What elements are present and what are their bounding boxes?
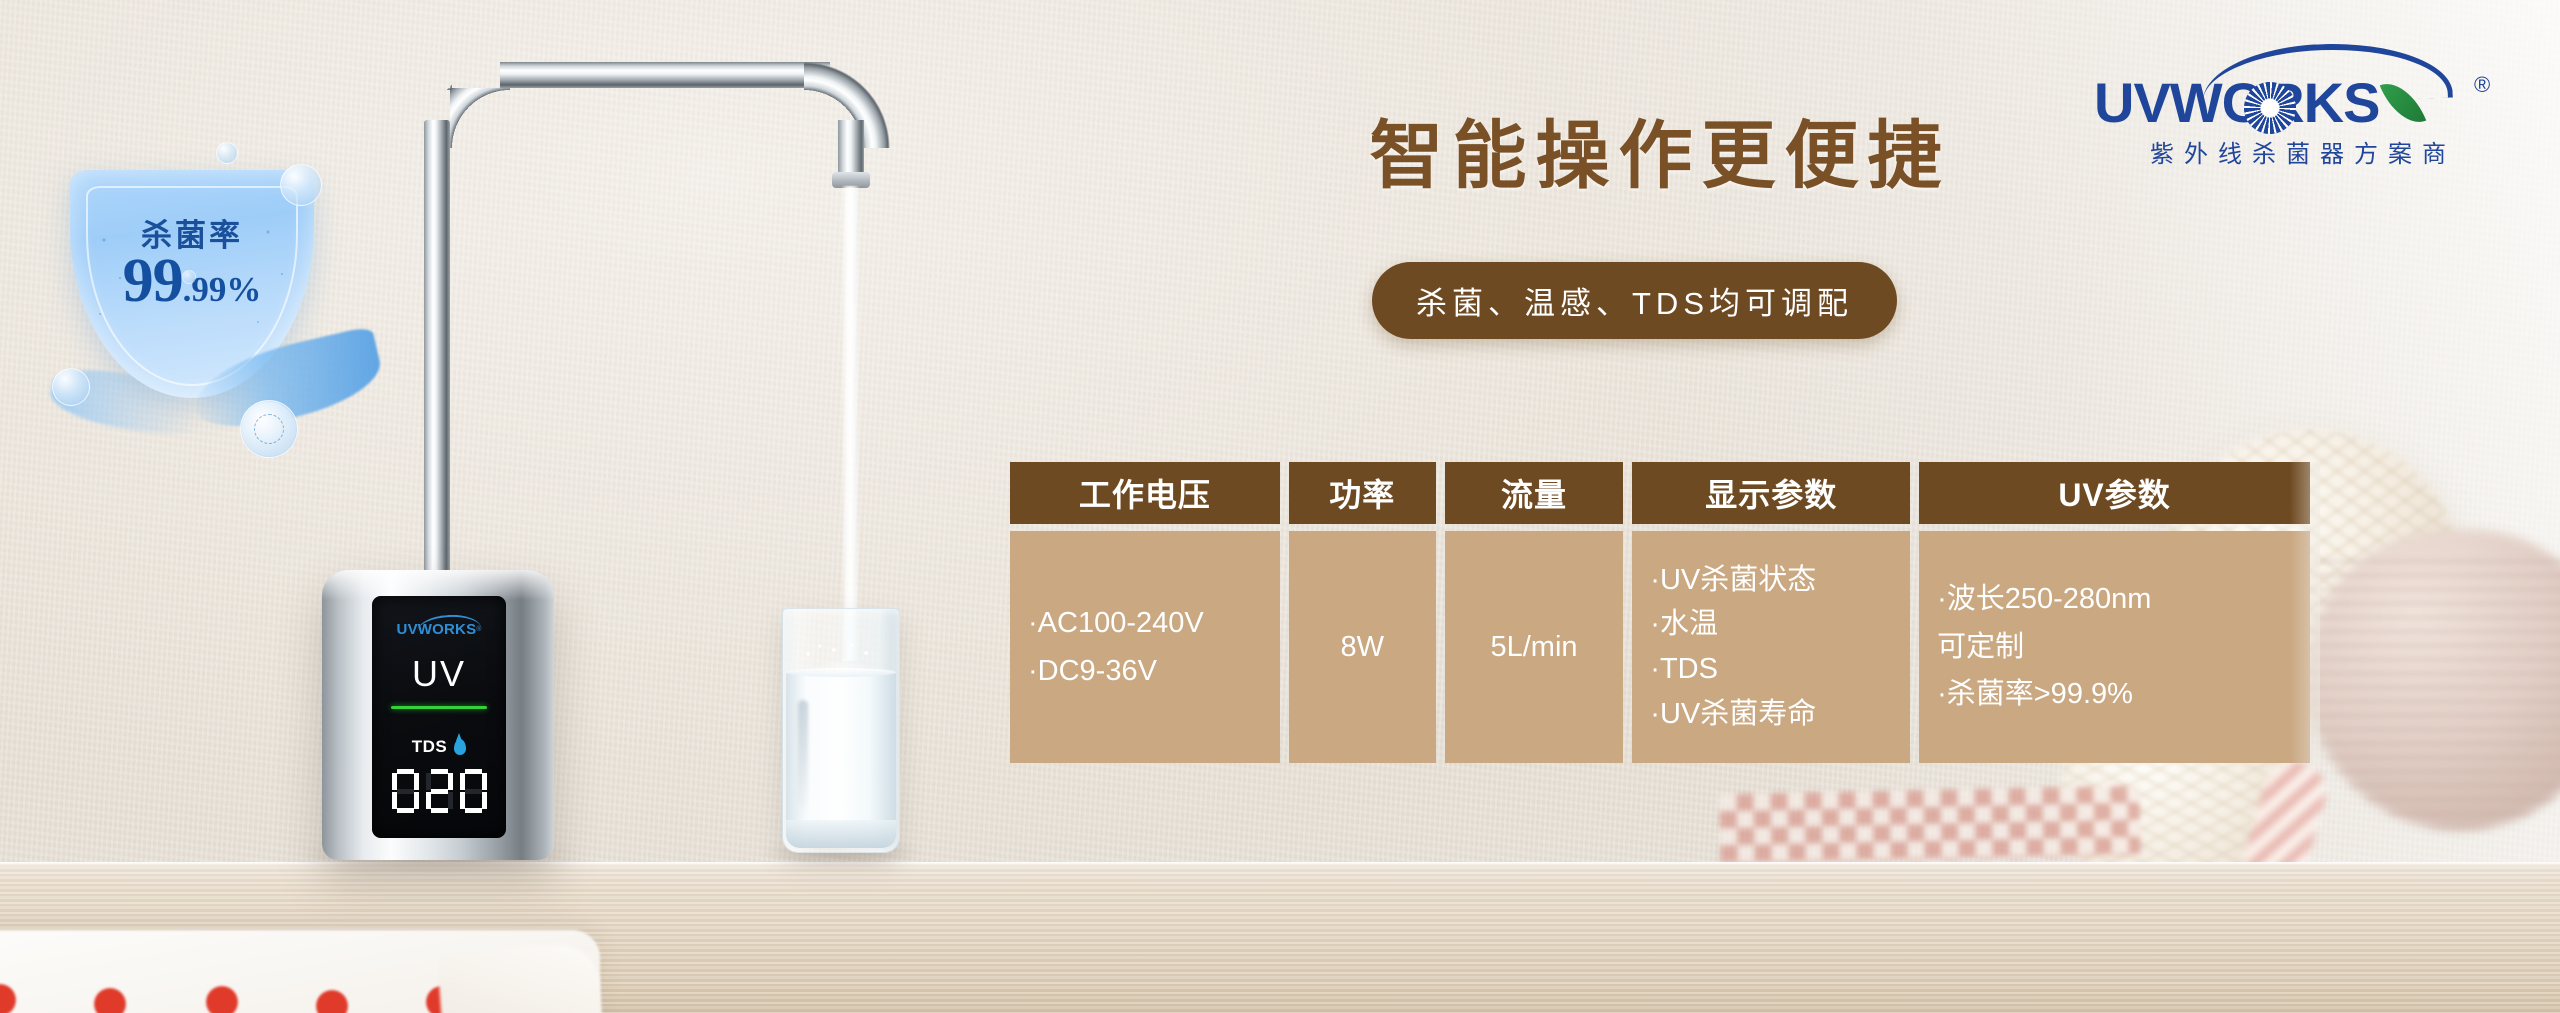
badge-percent-major: 99 [123,247,183,315]
logo-sunburst-rays [2244,82,2296,134]
spec-body: ·波长250-280nm 可定制 ·杀菌率>99.9% [1919,531,2310,763]
faucet-spout [838,120,864,180]
subtitle-pill: 杀菌、温感、TDS均可调配 [1372,262,1897,339]
spec-header: 流量 [1445,462,1624,524]
spec-header: UV参数 [1919,462,2310,524]
seven-segment-digit [392,769,419,813]
water-stream [842,186,859,661]
badge-title: 杀菌率 [70,210,314,255]
brand-logo: UVWORKS ® 紫外线杀菌器方案商 [2088,38,2518,168]
bubble-icon [182,270,196,284]
spec-line: 可定制 [1937,629,2292,666]
spec-line: ·波长250-280nm [1937,581,2292,618]
bubble-icon [52,368,90,406]
spec-line: ·TDS [1650,651,1892,688]
device-display-screen: UVWORKS ® UV TDS [372,596,506,838]
spec-body: 5L/min [1445,531,1624,763]
faucet-horizontal-pipe [500,62,830,88]
spec-line: ·水温 [1650,606,1892,643]
page-title: 智能操作更便捷 [1330,118,1990,198]
spec-column-working-voltage: 工作电压 ·AC100-240V ·DC9-36V [1010,462,1280,763]
spec-body: ·UV杀菌状态 ·水温 ·TDS ·UV杀菌寿命 [1632,531,1910,763]
glass-base [786,820,896,848]
sterilization-rate-badge: 杀菌率 99.99% [42,150,342,430]
logo-tagline: 紫外线杀菌器方案商 [2096,134,2510,169]
spec-header: 工作电压 [1010,462,1280,524]
spec-header: 显示参数 [1632,462,1910,524]
seven-segment-digit [426,769,453,813]
water-drop-icon [454,739,466,755]
seven-segment-digit [460,769,487,813]
spec-line: 8W [1341,629,1385,666]
checkered-mat [1719,786,2140,865]
logo-registered-mark: ® [2474,72,2490,98]
screen-logo: UVWORKS ® [391,618,487,640]
spec-table: 工作电压 ·AC100-240V ·DC9-36V 功率 8W 流量 5L/mi… [1010,462,2310,763]
screen-tds-label: TDS [412,737,448,757]
spec-line: ·AC100-240V [1028,605,1262,642]
towel-fold [437,943,603,1013]
spec-body: 8W [1289,531,1436,763]
screen-tds-row: TDS [412,737,467,757]
spec-line: ·DC9-36V [1028,653,1262,690]
screen-mode-label: UV [412,656,466,692]
glass-highlight [798,700,808,820]
screen-tds-value [392,769,487,813]
bubble-icon [216,142,238,164]
spec-column-flow-rate: 流量 5L/min [1445,462,1624,763]
spec-column-uv-parameters: UV参数 ·波长250-280nm 可定制 ·杀菌率>99.9% [1919,462,2310,763]
faucet-vertical-pipe [424,120,450,580]
water-splash [800,640,884,676]
spec-body: ·AC100-240V ·DC9-36V [1010,531,1280,763]
spec-header: 功率 [1289,462,1436,524]
bubble-icon [280,164,322,206]
spec-line: ·UV杀菌状态 [1650,562,1892,599]
spec-line: ·杀菌率>99.9% [1937,676,2292,713]
germ-icon [242,402,296,456]
spec-line: ·UV杀菌寿命 [1650,696,1892,733]
spec-column-power: 功率 8W [1289,462,1436,763]
logo-wordmark: UVWORKS [2094,70,2379,135]
spec-line: 5L/min [1490,629,1577,666]
spec-column-display-parameters: 显示参数 ·UV杀菌状态 ·水温 ·TDS ·UV杀菌寿命 [1632,462,1910,763]
screen-status-indicator-bar [391,706,487,709]
